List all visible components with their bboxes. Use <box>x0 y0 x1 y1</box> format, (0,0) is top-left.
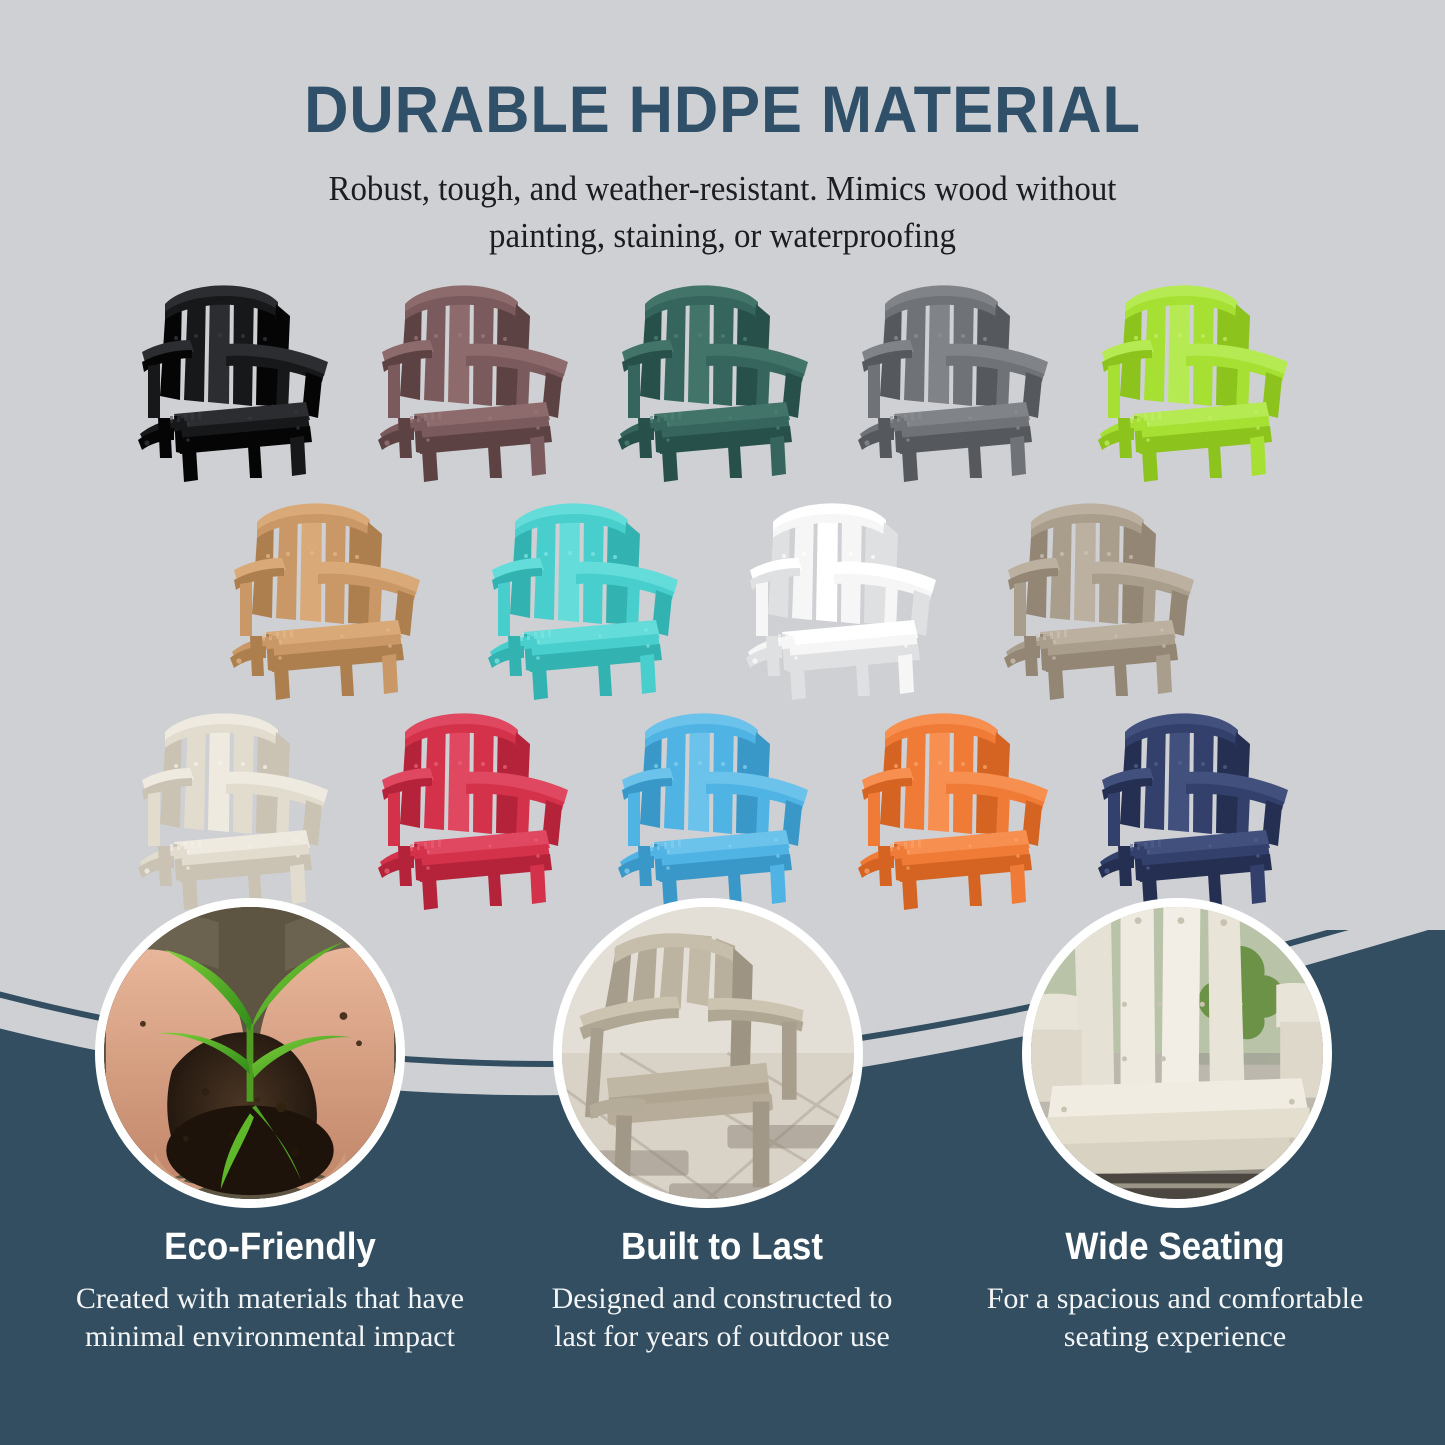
taupe-chair-on-patio-photo <box>562 907 854 1199</box>
subtitle-line-2: painting, staining, or waterproofing <box>489 216 956 255</box>
chair-swatch-red[interactable] <box>370 696 580 911</box>
chair-swatch-black[interactable] <box>130 268 340 483</box>
header: DURABLE HDPE MATERIAL Robust, tough, and… <box>0 0 1445 260</box>
chair-swatch-turquoise[interactable] <box>480 486 690 701</box>
infographic-canvas: DURABLE HDPE MATERIAL Robust, tough, and… <box>0 0 1445 1445</box>
chair-swatch-lime-green[interactable] <box>1090 268 1300 483</box>
page-title: DURABLE HDPE MATERIAL <box>51 0 1395 142</box>
feature-title: Eco-Friendly <box>54 1228 486 1266</box>
chair-swatch-navy[interactable] <box>1090 696 1300 911</box>
feature-title: Wide Seating <box>959 1228 1391 1266</box>
feature-photo-circle-seating <box>1022 898 1332 1208</box>
feature-title: Built to Last <box>506 1228 938 1266</box>
chair-color-grid <box>0 268 1445 928</box>
feature-desc-line-2: seating experience <box>1064 1320 1286 1353</box>
feature-caption-seating: Wide Seating For a spacious and comforta… <box>940 1228 1410 1357</box>
chair-swatch-teak[interactable] <box>222 486 432 701</box>
chair-swatch-ivory[interactable] <box>130 696 340 911</box>
cream-chair-wide-seat-closeup-photo <box>1031 907 1323 1199</box>
chair-swatch-orange[interactable] <box>850 696 1060 911</box>
feature-photo-circle-eco <box>95 898 405 1208</box>
chair-row-2 <box>0 486 1445 701</box>
feature-description: Created with materials that have minimal… <box>35 1280 505 1357</box>
feature-desc-line-1: Designed and constructed to <box>552 1282 893 1315</box>
page-subtitle: Robust, tough, and weather-resistant. Mi… <box>43 142 1401 260</box>
feature-description: For a spacious and comfortable seating e… <box>940 1280 1410 1357</box>
feature-desc-line-1: For a spacious and comfortable <box>987 1282 1364 1315</box>
chair-swatch-light-blue[interactable] <box>610 696 820 911</box>
chair-swatch-gray[interactable] <box>850 268 1060 483</box>
chair-swatch-dark-green[interactable] <box>610 268 820 483</box>
chair-row-3 <box>0 696 1445 911</box>
feature-desc-line-1: Created with materials that have <box>76 1282 464 1315</box>
feature-description: Designed and constructed to last for yea… <box>487 1280 957 1357</box>
chair-swatch-weathered-wood[interactable] <box>996 486 1206 701</box>
feature-desc-line-2: last for years of outdoor use <box>554 1320 890 1353</box>
feature-caption-eco: Eco-Friendly Created with materials that… <box>35 1228 505 1357</box>
chair-swatch-brown[interactable] <box>370 268 580 483</box>
chair-row-1 <box>0 268 1445 483</box>
feature-caption-durability: Built to Last Designed and constructed t… <box>487 1228 957 1357</box>
feature-desc-line-2: minimal environmental impact <box>85 1320 455 1353</box>
subtitle-line-1: Robust, tough, and weather-resistant. Mi… <box>329 169 1117 208</box>
feature-photo-circle-durability <box>553 898 863 1208</box>
chair-swatch-white[interactable] <box>738 486 948 701</box>
hands-holding-seedling-photo <box>104 907 396 1199</box>
